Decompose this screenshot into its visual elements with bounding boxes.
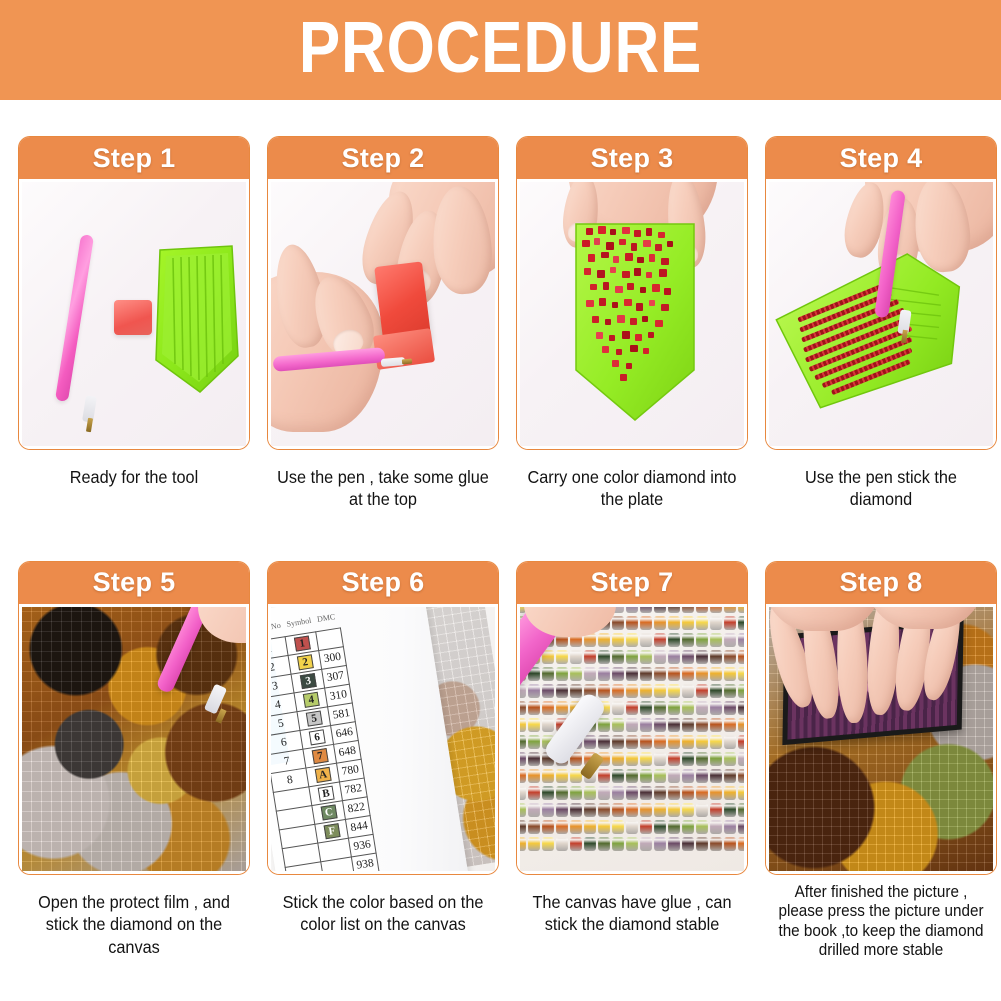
step-4-image [766, 179, 996, 449]
diamond-bead [612, 735, 624, 749]
step-4-caption: Use the pen stick the diamond [773, 466, 989, 511]
diamond-bead [682, 769, 694, 783]
step-card-1: Step 1 [18, 136, 250, 511]
diamond-bead [626, 701, 638, 715]
symbol-swatch: 6 [309, 729, 326, 745]
step-7-header: Step 7 [517, 562, 747, 604]
diamond-bead [598, 820, 610, 834]
diamond-bead [654, 650, 666, 664]
diamond-bead [668, 667, 680, 681]
diamond-bead [654, 820, 666, 834]
diamond-bead [696, 667, 708, 681]
diamond-bead [724, 616, 736, 630]
diamond-bead [612, 633, 624, 647]
diamond-bead [612, 684, 624, 698]
diamond-bead [528, 820, 540, 834]
diamond-bead [528, 684, 540, 698]
step-2-caption: Use the pen , take some glue at the top [275, 466, 491, 511]
symbol-swatch: 4 [303, 691, 320, 707]
diamond-bead [654, 616, 666, 630]
tray-with-diamonds-photo [520, 182, 744, 446]
pen-picking-diamond-photo [769, 182, 993, 446]
diamond-bead [696, 616, 708, 630]
diamond-bead [570, 684, 582, 698]
diamond-bead [682, 684, 694, 698]
diamond-bead [570, 786, 582, 800]
diamond-bead [570, 650, 582, 664]
diamond-bead [626, 607, 638, 613]
diamond-bead [528, 769, 540, 783]
symbol-swatch: 5 [306, 710, 323, 726]
diamond-bead [724, 667, 736, 681]
diamond-bead [654, 684, 666, 698]
diamond-bead [668, 684, 680, 698]
diamond-bead [682, 837, 694, 851]
hand-icon [198, 607, 246, 643]
diamond-bead [640, 607, 652, 613]
diamond-bead [724, 803, 736, 817]
diamond-bead [520, 684, 526, 698]
diamond-bead [520, 803, 526, 817]
diamond-bead [556, 786, 568, 800]
diamond-bead [612, 769, 624, 783]
step-7-card: Step 7 [516, 561, 748, 875]
diamond-bead [598, 718, 610, 732]
diamond-bead [682, 735, 694, 749]
step-card-3: Step 3 [516, 136, 748, 511]
diamond-bead [668, 650, 680, 664]
diamond-bead [640, 786, 652, 800]
diamond-bead [682, 820, 694, 834]
diamond-bead [654, 667, 666, 681]
diamond-bead [710, 735, 722, 749]
diamond-bead [696, 701, 708, 715]
diamond-bead [710, 718, 722, 732]
diamond-bead [640, 837, 652, 851]
bead-macro-photo [520, 607, 744, 871]
diamond-bead [710, 684, 722, 698]
wax-glue-square-icon [114, 300, 152, 335]
diamond-bead [640, 735, 652, 749]
diamond-bead [598, 786, 610, 800]
diamond-bead [696, 803, 708, 817]
diamond-bead [654, 752, 666, 766]
diamond-bead [710, 752, 722, 766]
diamond-bead [710, 769, 722, 783]
diamond-bead [612, 701, 624, 715]
diamond-bead [682, 718, 694, 732]
diamond-bead [640, 769, 652, 783]
diamond-bead [612, 752, 624, 766]
diamond-bead [584, 786, 596, 800]
green-tray-icon [150, 244, 242, 399]
diamond-bead [696, 752, 708, 766]
diamond-bead [668, 752, 680, 766]
step-card-7: Step 7 The canvas have glue , can stick … [516, 561, 748, 960]
step-5-card: Step 5 [18, 561, 250, 875]
diamond-bead [738, 769, 744, 783]
diamond-bead [626, 837, 638, 851]
diamond-bead [528, 752, 540, 766]
diamond-bead [682, 650, 694, 664]
diamond-bead [584, 667, 596, 681]
diamond-bead [724, 735, 736, 749]
diamond-bead [528, 786, 540, 800]
diamond-bead [640, 820, 652, 834]
diamond-bead [738, 837, 744, 851]
step-3-card: Step 3 [516, 136, 748, 450]
diamond-bead [570, 803, 582, 817]
diamond-bead [520, 752, 526, 766]
diamond-bead [570, 667, 582, 681]
red-diamonds-icon [576, 226, 694, 386]
diamond-bead [724, 718, 736, 732]
diamond-bead [584, 820, 596, 834]
diamond-bead [724, 701, 736, 715]
diamond-bead [626, 769, 638, 783]
step-8-image [766, 604, 996, 874]
diamond-bead [640, 752, 652, 766]
diamond-bead [724, 684, 736, 698]
diamond-bead [710, 701, 722, 715]
diamond-bead [626, 667, 638, 681]
step-1-header: Step 1 [19, 137, 249, 179]
diamond-bead [640, 803, 652, 817]
diamond-bead [626, 752, 638, 766]
step-4-header: Step 4 [766, 137, 996, 179]
steps-grid-row-2: Step 5 Open the protect film , and stick… [0, 525, 1001, 960]
diamond-bead [556, 650, 568, 664]
diamond-bead [696, 786, 708, 800]
diamond-bead [528, 701, 540, 715]
diamond-bead [598, 735, 610, 749]
diamond-bead [696, 820, 708, 834]
diamond-bead [668, 718, 680, 732]
diamond-bead [626, 684, 638, 698]
page-title: PROCEDURE [299, 12, 702, 88]
diamond-bead [738, 718, 744, 732]
diamond-bead [612, 667, 624, 681]
diamond-bead [654, 607, 666, 613]
symbol-swatch: 2 [297, 654, 314, 670]
step-1-caption: Ready for the tool [26, 466, 242, 488]
step-card-5: Step 5 Open the protect film , and stick… [18, 561, 250, 960]
diamond-bead [738, 820, 744, 834]
diamond-bead [598, 633, 610, 647]
diamond-bead [738, 667, 744, 681]
diamond-bead [570, 820, 582, 834]
diamond-bead [584, 803, 596, 817]
diamond-bead [710, 837, 722, 851]
diamond-bead [654, 837, 666, 851]
diamond-bead [710, 633, 722, 647]
diamond-bead [612, 803, 624, 817]
diamond-bead [654, 718, 666, 732]
dmc-cell: 938 [352, 852, 379, 870]
diamond-bead [724, 650, 736, 664]
diamond-bead [710, 803, 722, 817]
diamond-bead [738, 701, 744, 715]
diamond-bead [520, 735, 526, 749]
diamond-bead [654, 735, 666, 749]
diamond-bead [710, 820, 722, 834]
diamond-bead [682, 752, 694, 766]
diamond-bead [738, 684, 744, 698]
diamond-bead [682, 786, 694, 800]
diamond-bead [626, 786, 638, 800]
step-3-image [517, 179, 747, 449]
diamond-bead [556, 701, 568, 715]
step-8-card: Step 8 [765, 561, 997, 875]
symbol-swatch: 3 [300, 672, 317, 688]
diamond-bead [598, 837, 610, 851]
glue-dipping-photo [271, 182, 495, 446]
diamond-bead [724, 752, 736, 766]
diamond-bead [710, 667, 722, 681]
diamond-bead [598, 684, 610, 698]
diamond-bead [696, 735, 708, 749]
step-3-header: Step 3 [517, 137, 747, 179]
diamond-bead [626, 735, 638, 749]
symbol-swatch: 1 [294, 635, 311, 651]
step-7-caption: The canvas have glue , can stick the dia… [524, 891, 740, 936]
diamond-bead [612, 718, 624, 732]
diamond-bead [556, 667, 568, 681]
symbol-swatch: A [314, 766, 331, 782]
diamond-bead [682, 803, 694, 817]
diamond-bead [626, 820, 638, 834]
diamond-bead [542, 684, 554, 698]
diamond-bead [542, 820, 554, 834]
diamond-bead [640, 616, 652, 630]
step-4-card: Step 4 [765, 136, 997, 450]
diamond-bead [570, 837, 582, 851]
diamond-bead [682, 701, 694, 715]
diamond-bead [626, 803, 638, 817]
diamond-bead [682, 616, 694, 630]
diamond-bead [738, 607, 744, 613]
step-5-image [19, 604, 249, 874]
color-chart-photo: Serial NoSymbolDMC1122300333074431055581… [271, 607, 495, 871]
diamond-bead [738, 650, 744, 664]
diamond-bead [640, 667, 652, 681]
diamond-bead [668, 701, 680, 715]
diamond-bead [682, 633, 694, 647]
step-6-header: Step 6 [268, 562, 498, 604]
pressing-board-photo [769, 607, 993, 871]
diamond-bead [528, 803, 540, 817]
diamond-bead [598, 667, 610, 681]
diamond-bead [640, 718, 652, 732]
diamond-bead [556, 820, 568, 834]
diamond-bead [584, 650, 596, 664]
diamond-bead [520, 701, 526, 715]
diamond-bead [612, 837, 624, 851]
diamond-bead [640, 633, 652, 647]
diamond-bead [520, 837, 526, 851]
diamond-bead [696, 633, 708, 647]
diamond-bead [626, 650, 638, 664]
diamond-bead [598, 650, 610, 664]
step-8-header: Step 8 [766, 562, 996, 604]
diamond-bead [668, 735, 680, 749]
diamond-bead [738, 803, 744, 817]
diamond-bead [598, 769, 610, 783]
diamond-bead [612, 650, 624, 664]
step-3-caption: Carry one color diamond into the plate [524, 466, 740, 511]
diamond-bead [542, 701, 554, 715]
diamond-bead [682, 667, 694, 681]
diamond-bead [542, 786, 554, 800]
diamond-bead [542, 769, 554, 783]
diamond-bead [520, 718, 526, 732]
diamond-bead [696, 718, 708, 732]
diamond-bead [556, 684, 568, 698]
diamond-bead [654, 786, 666, 800]
diamond-bead [724, 820, 736, 834]
diamond-bead [724, 607, 736, 613]
diamond-bead [640, 701, 652, 715]
diamond-bead [612, 786, 624, 800]
diamond-bead [640, 650, 652, 664]
diamond-bead [738, 616, 744, 630]
diamond-bead [710, 607, 722, 613]
pen-nib-icon [86, 418, 93, 433]
canvas-sunflower-photo [22, 607, 246, 871]
diamond-bead [696, 607, 708, 613]
diamond-bead [520, 786, 526, 800]
step-1-card: Step 1 [18, 136, 250, 450]
diamond-bead [654, 633, 666, 647]
diamond-bead [612, 616, 624, 630]
diamond-bead [542, 718, 554, 732]
diamond-bead [738, 735, 744, 749]
diamond-bead [528, 735, 540, 749]
diamond-bead [738, 752, 744, 766]
diamond-bead [528, 837, 540, 851]
diamond-bead [626, 718, 638, 732]
diamond-bead [738, 786, 744, 800]
steps-grid-row-1: Step 1 [0, 100, 1001, 511]
step-2-header: Step 2 [268, 137, 498, 179]
diamond-bead [710, 786, 722, 800]
diamond-bead [654, 803, 666, 817]
pen-nib-icon [402, 359, 412, 365]
diamond-bead [626, 633, 638, 647]
diamond-bead [668, 837, 680, 851]
diamond-bead [724, 633, 736, 647]
diamond-bead [654, 769, 666, 783]
diamond-bead [668, 633, 680, 647]
diamond-bead [520, 769, 526, 783]
diamond-bead [626, 616, 638, 630]
diamond-bead [612, 820, 624, 834]
diamond-bead [696, 837, 708, 851]
diamond-bead [654, 701, 666, 715]
step-8-caption: After finished the picture , please pres… [773, 883, 989, 960]
diamond-bead [542, 837, 554, 851]
diamond-bead [668, 786, 680, 800]
step-card-8: Step 8 After finished the picture , [765, 561, 997, 960]
step-2-card: Step 2 [267, 136, 499, 450]
diamond-bead [710, 616, 722, 630]
step-6-image: Serial NoSymbolDMC1122300333074431055581… [268, 604, 498, 874]
diamond-bead [542, 803, 554, 817]
step-2-image [268, 179, 498, 449]
diamond-bead [542, 667, 554, 681]
diamond-bead [556, 769, 568, 783]
step-5-header: Step 5 [19, 562, 249, 604]
page-banner: PROCEDURE [0, 0, 1001, 100]
diamond-bead [668, 820, 680, 834]
step-5-caption: Open the protect film , and stick the di… [26, 891, 242, 958]
diamond-bead [724, 769, 736, 783]
step-card-2: Step 2 [267, 136, 499, 511]
diamond-bead [556, 837, 568, 851]
tools-photo [22, 182, 246, 446]
step-card-6: Step 6 Serial NoSymbolDMC112230033307443… [267, 561, 499, 960]
step-1-image [19, 179, 249, 449]
step-6-card: Step 6 Serial NoSymbolDMC112230033307443… [267, 561, 499, 875]
diamond-bead [556, 803, 568, 817]
diamond-bead [640, 684, 652, 698]
diamond-bead [696, 650, 708, 664]
step-7-image [517, 604, 747, 874]
symbol-swatch: 7 [312, 747, 329, 763]
diamond-bead [668, 769, 680, 783]
diamond-bead [710, 650, 722, 664]
diamond-bead [668, 616, 680, 630]
symbol-swatch: B [317, 785, 334, 801]
diamond-bead [696, 684, 708, 698]
diamond-bead [668, 607, 680, 613]
diamond-bead [724, 837, 736, 851]
diamond-bead [528, 718, 540, 732]
step-6-caption: Stick the color based on the color list … [275, 891, 491, 936]
diamond-bead [682, 607, 694, 613]
diamond-bead [598, 803, 610, 817]
diamond-bead [724, 786, 736, 800]
symbol-swatch: C [320, 804, 337, 820]
diamond-bead [668, 803, 680, 817]
diamond-bead [696, 769, 708, 783]
pink-pen-icon [55, 234, 94, 402]
step-card-4: Step 4 [765, 136, 997, 511]
diamond-bead [584, 837, 596, 851]
symbol-swatch: F [323, 822, 340, 838]
diamond-bead [520, 820, 526, 834]
diamond-bead [738, 633, 744, 647]
diamond-bead [584, 735, 596, 749]
